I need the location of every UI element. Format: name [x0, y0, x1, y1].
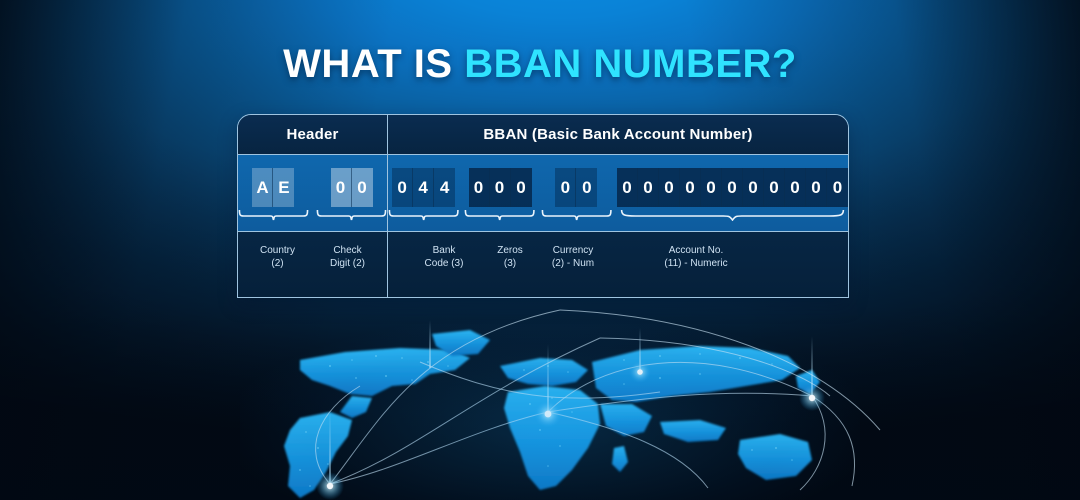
digit-group-currency: 00 [541, 168, 612, 221]
digit-group-check-digit: 00 [316, 168, 387, 221]
digit-box: 0 [806, 168, 827, 207]
bban-label: BBAN (Basic Bank Account Number) [388, 115, 848, 154]
digit-group-account-no: 00000000000 [617, 168, 848, 221]
digit-box: 0 [469, 168, 490, 207]
page-title-highlight: BBAN NUMBER? [464, 42, 797, 86]
digit-box: 0 [392, 168, 413, 207]
digit-group-zeros: 000 [464, 168, 535, 221]
table-labels-row: Country (2)Check Digit (2) Bank Code (3)… [238, 232, 848, 297]
group-label-currency: Currency (2) - Num [538, 244, 608, 270]
header-digit-groups: AE00 [238, 155, 387, 231]
labels-cell-bban-section: Bank Code (3)Zeros (3)Currency (2) - Num… [388, 232, 848, 297]
digit-box: 0 [701, 168, 722, 207]
table-header-cell-left: Header [238, 115, 388, 154]
digit-box: 0 [576, 168, 597, 207]
digit-box: 0 [764, 168, 785, 207]
digits-cell-header-section: AE00 [238, 155, 388, 231]
digit-boxes: AE [252, 168, 294, 207]
group-brace-account-no [617, 210, 848, 221]
digit-boxes: 00 [331, 168, 373, 207]
table-header-row: Header BBAN (Basic Bank Account Number) [238, 115, 848, 155]
table-digits-row: AE00 0440000000000000000 [238, 155, 848, 232]
digit-box: 4 [434, 168, 455, 207]
digit-box: 0 [331, 168, 352, 207]
digit-box: 0 [555, 168, 576, 207]
digit-box: 0 [722, 168, 743, 207]
group-label-zeros: Zeros (3) [482, 244, 538, 270]
digit-box: 0 [352, 168, 373, 207]
digit-boxes: 00 [555, 168, 597, 207]
digit-box: 0 [785, 168, 806, 207]
digit-box: A [252, 168, 273, 207]
digit-box: E [273, 168, 294, 207]
labels-cell-header-section: Country (2)Check Digit (2) [238, 232, 388, 297]
digit-box: 0 [617, 168, 638, 207]
digit-box: 4 [413, 168, 434, 207]
digit-box: 0 [659, 168, 680, 207]
digit-group-bank-code: 044 [388, 168, 459, 221]
digit-boxes: 00000000000 [617, 168, 848, 207]
group-label-check-digit: Check Digit (2) [322, 244, 374, 270]
digit-box: 0 [490, 168, 511, 207]
header-group-labels: Country (2)Check Digit (2) [238, 232, 387, 270]
group-brace-country [238, 210, 309, 221]
digit-box: 0 [680, 168, 701, 207]
group-label-bank-code: Bank Code (3) [406, 244, 482, 270]
digit-box: 0 [827, 168, 848, 207]
digit-boxes: 000 [469, 168, 532, 207]
group-label-country: Country (2) [252, 244, 304, 270]
digit-box: 0 [511, 168, 532, 207]
infographic-canvas: WHAT IS BBAN NUMBER? Header BBAN (Basic … [0, 0, 1080, 500]
table-header-cell-right: BBAN (Basic Bank Account Number) [388, 115, 848, 154]
group-brace-zeros [464, 210, 535, 221]
digit-boxes: 044 [392, 168, 455, 207]
bban-digit-groups: 0440000000000000000 [388, 155, 848, 231]
header-label: Header [238, 115, 387, 154]
group-brace-bank-code [388, 210, 459, 221]
digit-box: 0 [743, 168, 764, 207]
digit-group-country: AE [238, 168, 309, 221]
world-map-graphic [0, 300, 1080, 500]
bban-group-labels: Bank Code (3)Zeros (3)Currency (2) - Num… [388, 232, 848, 270]
digit-box: 0 [638, 168, 659, 207]
bban-structure-table: Header BBAN (Basic Bank Account Number) … [237, 114, 849, 298]
digits-cell-bban-section: 0440000000000000000 [388, 155, 848, 231]
group-brace-check-digit [316, 210, 387, 221]
group-brace-currency [541, 210, 612, 221]
page-title: WHAT IS BBAN NUMBER? [0, 44, 1080, 84]
group-label-account-no: Account No. (11) - Numeric [608, 244, 784, 270]
page-title-prefix: WHAT IS [283, 42, 464, 86]
